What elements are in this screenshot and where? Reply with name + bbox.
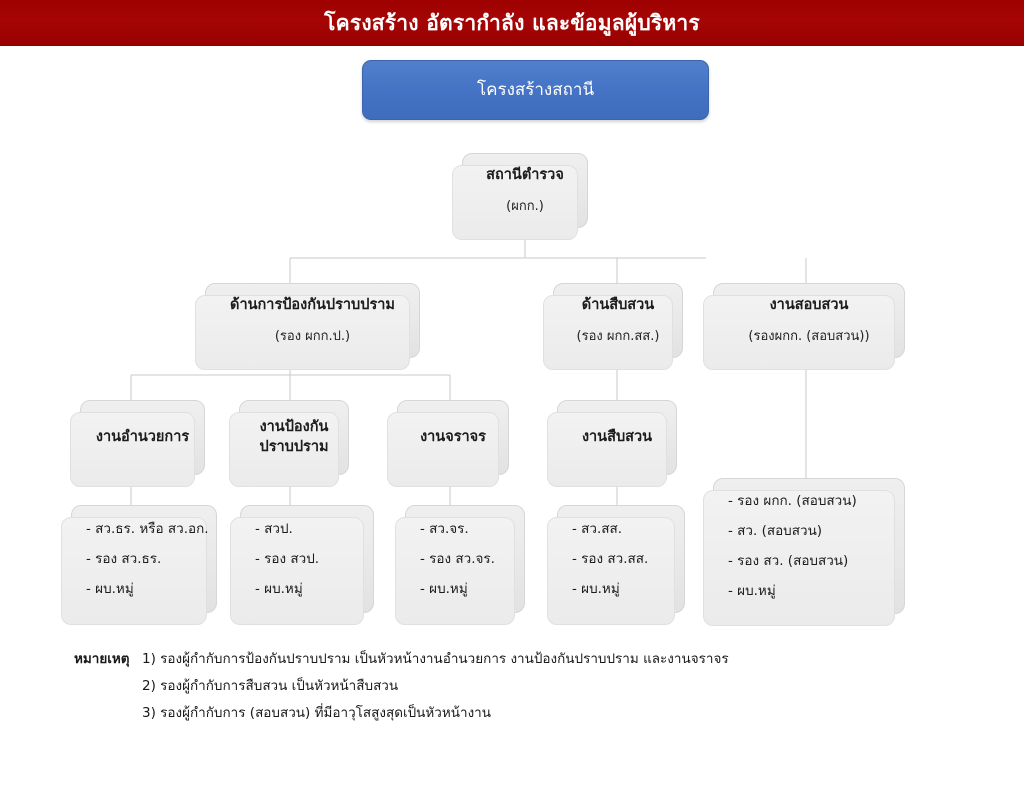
list-item: - รอง สวป.	[255, 544, 373, 574]
list-item: - รอง สว.สส.	[572, 544, 684, 574]
node-police-station-subtitle: (ผกก.)	[506, 198, 544, 216]
list-item: - รอง ผกก. (สอบสวน)	[728, 486, 904, 516]
node-investigation-division[interactable]: ด้านสืบสวน (รอง ผกก.สส.)	[553, 283, 683, 358]
node-crime-prevention-section-title: งานป้องกัน ปราบปราม	[259, 418, 328, 457]
list-item: - รอง สว.ธร.	[86, 544, 216, 574]
node-prevention-division-subtitle: (รอง ผกก.ป.)	[275, 328, 350, 346]
node-investigation-division-subtitle: (รอง ผกก.สส.)	[577, 328, 660, 346]
footnotes-label: หมายเหตุ	[74, 650, 142, 668]
node-inquiry-division-title: งานสอบสวน	[770, 296, 849, 316]
footnote-text: 3) รองผู้กำกับการ (สอบสวน) ที่มีอาวุโสสู…	[142, 704, 491, 722]
list-item: - ผบ.หมู่	[728, 576, 904, 606]
list-item: - สว.สส.	[572, 514, 684, 544]
node-detective-section[interactable]: งานสืบสวน	[557, 400, 677, 475]
node-police-station[interactable]: สถานีตำรวจ (ผกก.)	[462, 153, 588, 228]
footnote-text: 1) รองผู้กำกับการป้องกันปราบปราม เป็นหัว…	[142, 650, 729, 668]
list-item: - ผบ.หมู่	[255, 574, 373, 604]
footnote-row: 3) รองผู้กำกับการ (สอบสวน) ที่มีอาวุโสสู…	[74, 704, 974, 722]
node-traffic-section-title: งานจราจร	[420, 428, 486, 448]
node-police-station-title: สถานีตำรวจ	[486, 166, 564, 186]
node-prevention-division-title: ด้านการป้องกันปราบปราม	[230, 296, 395, 316]
node-crime-prevention-section[interactable]: งานป้องกัน ปราบปราม	[239, 400, 349, 475]
list-item: - รอง สว. (สอบสวน)	[728, 546, 904, 576]
footnote-row: 2) รองผู้กำกับการสืบสวน เป็นหัวหน้าสืบสว…	[74, 677, 974, 695]
node-investigation-division-title: ด้านสืบสวน	[582, 296, 654, 316]
list-item: - สวป.	[255, 514, 373, 544]
node-administration-section[interactable]: งานอำนวยการ	[80, 400, 205, 475]
list-item: - ผบ.หมู่	[86, 574, 216, 604]
footnote-text: 2) รองผู้กำกับการสืบสวน เป็นหัวหน้าสืบสว…	[142, 677, 398, 695]
list-item: - สว.จร.	[420, 514, 524, 544]
list-item: - ผบ.หมู่	[572, 574, 684, 604]
footnotes: หมายเหตุ 1) รองผู้กำกับการป้องกันปราบปรา…	[74, 650, 974, 732]
list-item: - รอง สว.จร.	[420, 544, 524, 574]
list-item: - สว.ธร. หรือ สว.อก.	[86, 514, 216, 544]
leaf-crime-prevention-positions[interactable]: - สวป. - รอง สวป. - ผบ.หมู่	[240, 505, 374, 613]
node-administration-section-title: งานอำนวยการ	[96, 428, 189, 448]
leaf-detective-positions[interactable]: - สว.สส. - รอง สว.สส. - ผบ.หมู่	[557, 505, 685, 613]
leaf-inquiry-positions[interactable]: - รอง ผกก. (สอบสวน) - สว. (สอบสวน) - รอง…	[713, 478, 905, 614]
footnote-row: หมายเหตุ 1) รองผู้กำกับการป้องกันปราบปรา…	[74, 650, 974, 668]
node-prevention-division[interactable]: ด้านการป้องกันปราบปราม (รอง ผกก.ป.)	[205, 283, 420, 358]
node-traffic-section[interactable]: งานจราจร	[397, 400, 509, 475]
list-item: - สว. (สอบสวน)	[728, 516, 904, 546]
leaf-traffic-positions[interactable]: - สว.จร. - รอง สว.จร. - ผบ.หมู่	[405, 505, 525, 613]
node-inquiry-division[interactable]: งานสอบสวน (รองผกก. (สอบสวน))	[713, 283, 905, 358]
node-detective-section-title: งานสืบสวน	[582, 428, 652, 448]
list-item: - ผบ.หมู่	[420, 574, 524, 604]
leaf-administration-positions[interactable]: - สว.ธร. หรือ สว.อก. - รอง สว.ธร. - ผบ.ห…	[71, 505, 217, 613]
node-inquiry-division-subtitle: (รองผกก. (สอบสวน))	[748, 328, 869, 346]
